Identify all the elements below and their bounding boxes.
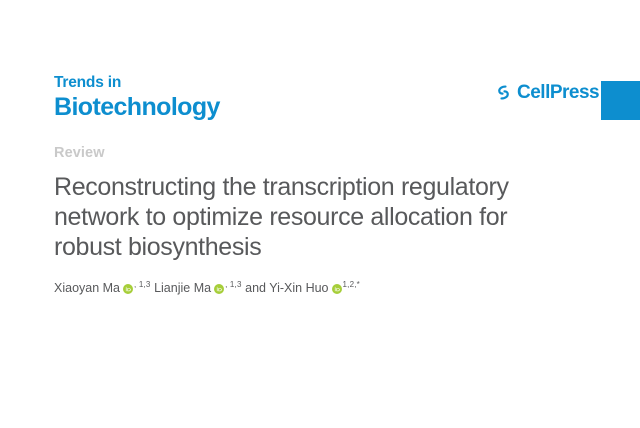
orcid-id-icon[interactable] <box>214 284 224 294</box>
journal-trends-label: Trends in <box>54 74 220 92</box>
article-title: Reconstructing the transcription regulat… <box>54 172 559 262</box>
cellpress-swirl-icon <box>495 84 512 101</box>
orcid-id-icon[interactable] <box>123 284 133 294</box>
orcid-id-icon[interactable] <box>332 284 342 294</box>
publisher-logo[interactable]: CellPress <box>495 83 599 102</box>
article-header: Review Reconstructing the transcription … <box>54 144 594 262</box>
brand-accent-block <box>601 81 640 120</box>
journal-logo[interactable]: Trends in Biotechnology <box>54 74 220 121</box>
author-affiliation-1: , 1,3 <box>134 280 151 289</box>
author-name-2[interactable]: Lianjie Ma <box>154 281 211 295</box>
article-type-label: Review <box>54 144 594 162</box>
author-conjunction: and <box>242 281 270 295</box>
author-affiliation-3: 1,2,* <box>343 280 360 289</box>
author-affiliation-2: , 1,3 <box>225 280 242 289</box>
publisher-name: CellPress <box>517 83 599 102</box>
author-list: Xiaoyan Ma, 1,3 Lianjie Ma, 1,3 and Yi-X… <box>54 277 360 296</box>
author-name-3[interactable]: Yi-Xin Huo <box>269 281 328 295</box>
article-cover-page: Trends in Biotechnology CellPress Review… <box>0 0 640 428</box>
journal-title: Biotechnology <box>54 93 220 121</box>
author-name-1[interactable]: Xiaoyan Ma <box>54 281 120 295</box>
